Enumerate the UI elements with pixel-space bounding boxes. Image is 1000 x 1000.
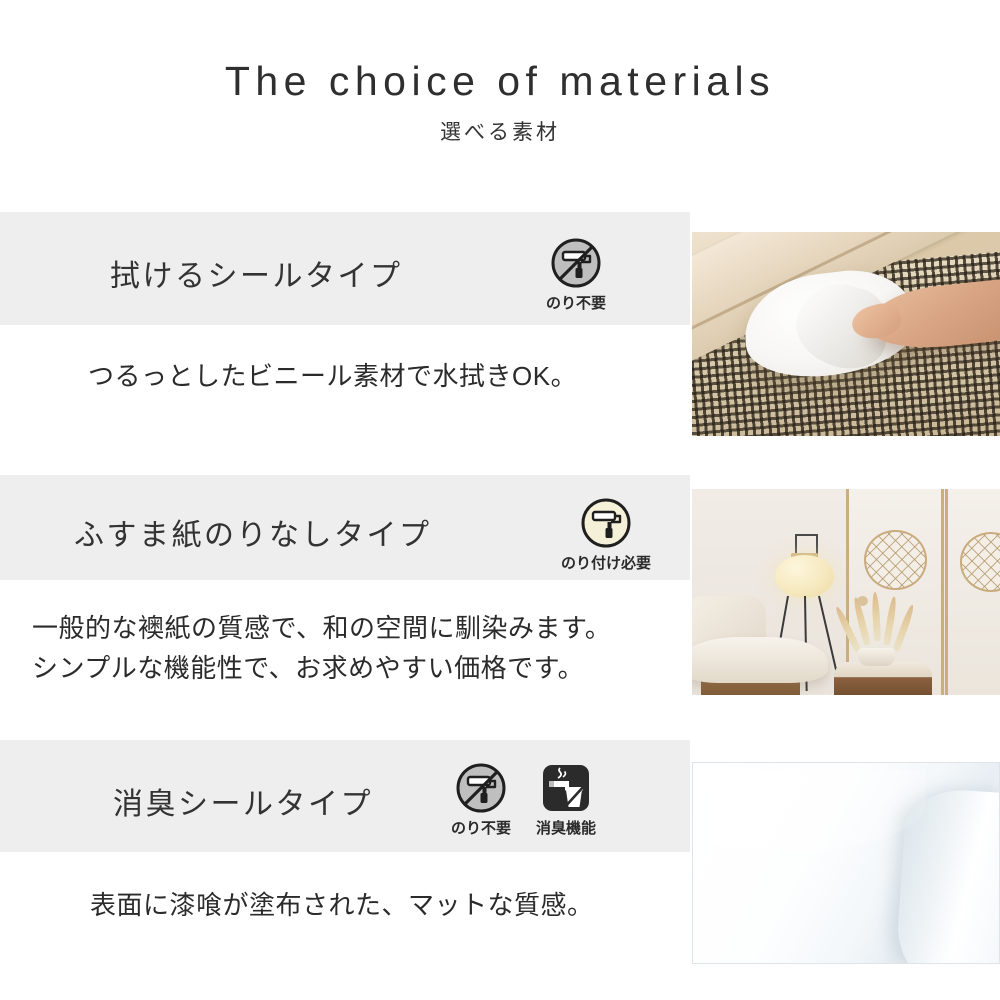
no-glue-roller-icon bbox=[455, 762, 507, 814]
section-badges: のり付け必要 bbox=[552, 497, 660, 573]
section-photo bbox=[692, 762, 1000, 964]
section-description: 表面に漆喰が塗布された、マットな質感。 bbox=[90, 885, 594, 925]
glue-roller-icon bbox=[580, 497, 632, 549]
badge-no-glue: のり不要 bbox=[450, 762, 512, 838]
badge-label: 消臭機能 bbox=[536, 817, 596, 838]
plant-pot bbox=[858, 648, 895, 667]
lattice-circle-left bbox=[864, 530, 927, 590]
armchair-seat bbox=[692, 637, 828, 682]
section-photo bbox=[692, 489, 1000, 695]
section-title: 消臭シールタイプ bbox=[113, 779, 373, 823]
paper-lantern-shade bbox=[775, 555, 834, 598]
deodorizing-icon bbox=[540, 762, 592, 814]
badge-deodorizing: 消臭機能 bbox=[526, 762, 606, 838]
badge-label: のり不要 bbox=[451, 817, 511, 838]
badge-label: のり付け必要 bbox=[561, 552, 651, 573]
section-photo bbox=[692, 232, 1000, 436]
section-badges: のり不要 消臭機能 bbox=[450, 762, 606, 838]
section-description: つるっとしたビニール素材で水拭きOK。 bbox=[88, 356, 577, 396]
section-title: ふすま紙のりなしタイプ bbox=[74, 510, 432, 554]
fusuma-panel-right bbox=[945, 489, 1000, 695]
side-table bbox=[834, 662, 933, 695]
section-description: 一般的な襖紙の質感で、和の空間に馴染みます。 シンプルな機能性で、お求めやすい価… bbox=[32, 608, 611, 688]
badge-glue-required: のり付け必要 bbox=[552, 497, 660, 573]
badge-label: のり不要 bbox=[546, 292, 606, 313]
material-section-deodorizing-seal-type: 消臭シールタイプ のり不要 消 bbox=[0, 0, 1000, 260]
